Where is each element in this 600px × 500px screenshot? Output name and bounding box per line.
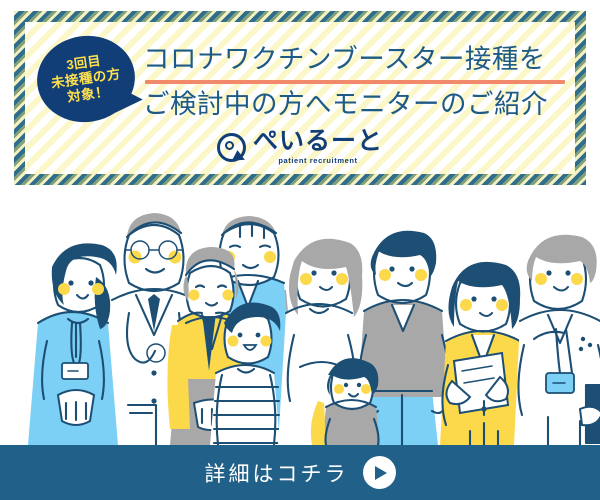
headline-line-2: ご検討中の方へモニターのご紹介: [143, 84, 569, 124]
figure-male-staff: [514, 235, 600, 445]
cta-detail-button[interactable]: 詳細はコチラ: [0, 445, 600, 500]
figure-woman-yellow-suit: [440, 262, 526, 445]
people-illustration: .ln{fill:none;stroke:#1d4f74;stroke-widt…: [0, 195, 600, 445]
play-icon: [363, 456, 396, 489]
logo-text-block: ぺいるーと patient recruitment: [253, 129, 383, 165]
cta-label: 詳細はコチラ: [205, 458, 349, 488]
banner-header: 3回目 未接種の方 対象！ コロナワクチンブースター接種を ご検討中の方へモニタ…: [0, 0, 600, 195]
headline-line-1: コロナワクチンブースター接種を: [143, 39, 569, 79]
logo-name: ぺいるーと: [253, 129, 383, 154]
striped-frame-border: 3回目 未接種の方 対象！ コロナワクチンブースター接種を ご検討中の方へモニタ…: [14, 11, 586, 185]
logo-tagline: patient recruitment: [278, 156, 357, 165]
headline: コロナワクチンブースター接種を ご検討中の方へモニターのご紹介: [143, 39, 569, 124]
vaccine-monitor-banner[interactable]: 3回目 未接種の方 対象！ コロナワクチンブースター接種を ご検討中の方へモニタ…: [0, 0, 600, 500]
header-striped-background: 3回目 未接種の方 対象！ コロナワクチンブースター接種を ご検討中の方へモニタ…: [25, 22, 575, 174]
brand-logo: ぺいるーと patient recruitment: [25, 129, 575, 165]
peiruuto-logo-mark-icon: [217, 133, 246, 162]
eligibility-badge: 3回目 未接種の方 対象！: [31, 30, 140, 129]
